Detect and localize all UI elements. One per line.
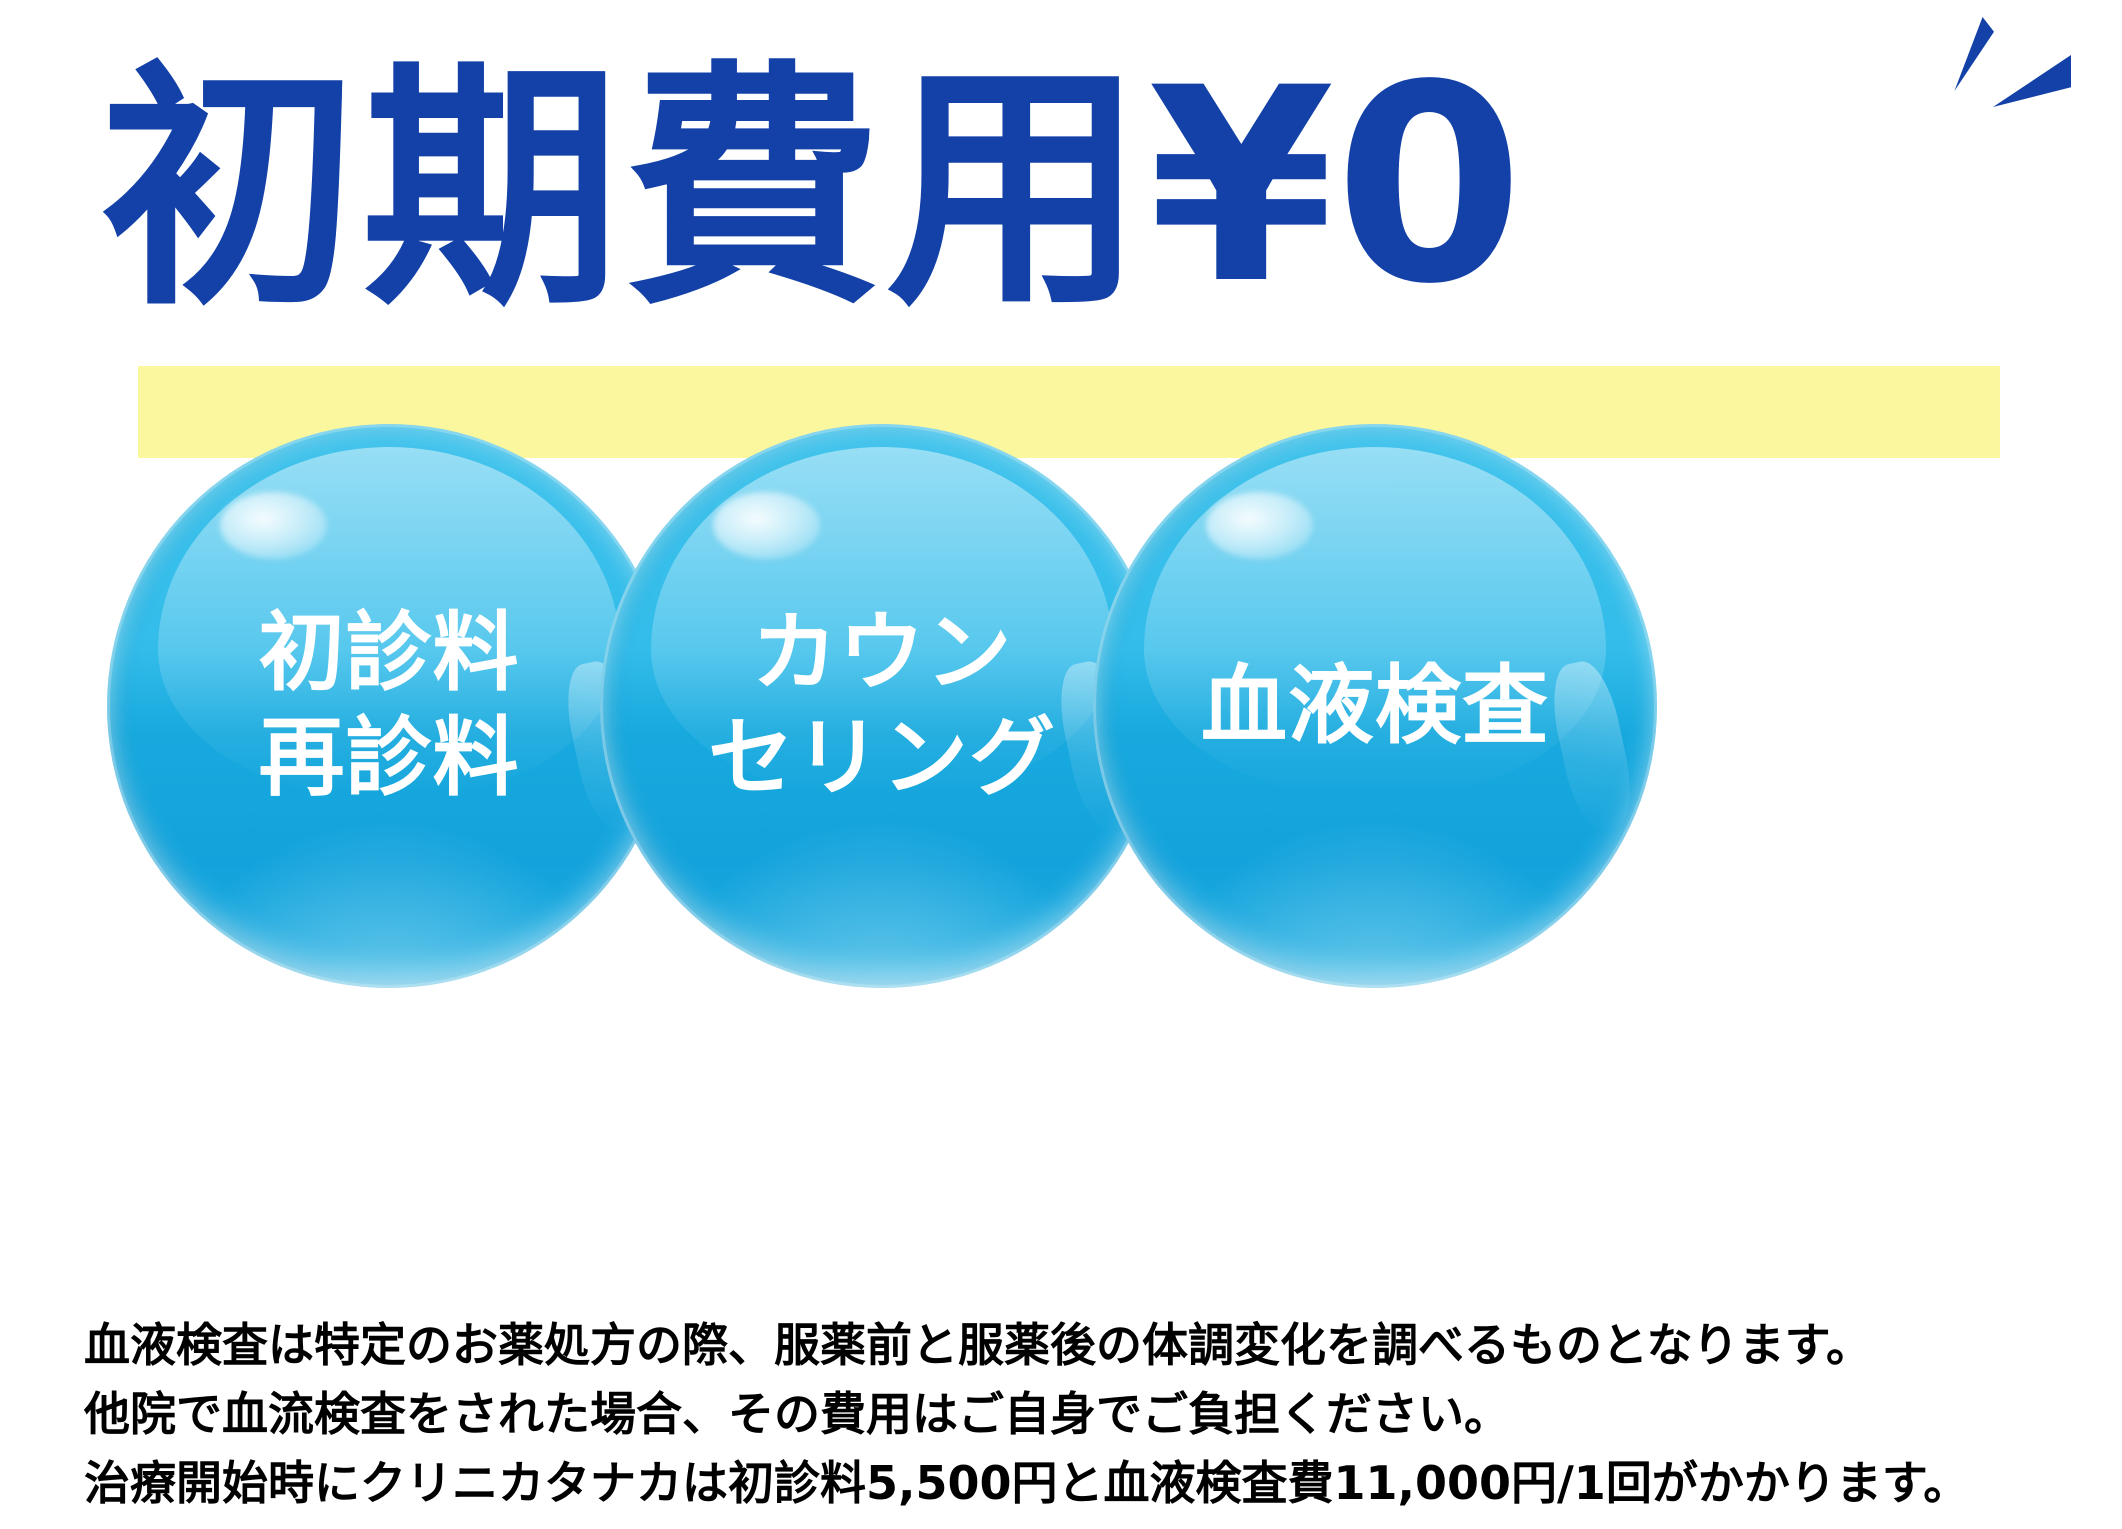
bubble-rim (1093, 424, 1657, 988)
feature-bubble-group: 初診料 再診料 カウン セリング 血液検査 (0, 0, 2122, 1529)
bubble-label-line1: 初診料 (259, 601, 520, 706)
bubble-label: 血液検査 (1093, 424, 1657, 988)
feature-bubble-blood-test: 血液検査 (1093, 424, 1657, 988)
bubble-glint-icon (1544, 656, 1640, 834)
bubble-label-line1: 血液検査 (1201, 654, 1549, 759)
feature-bubble-shoshinryo-saishinryo: 初診料 再診料 (107, 424, 671, 988)
promo-poster: 初期費用¥0 初診料 再診料 カウン セリング 血液検査 (0, 0, 2122, 1529)
note-line-2: 他院で血流検査をされた場合、その費用はご自身でご負担ください。 (84, 1380, 2074, 1449)
bubble-label: 初診料 再診料 (107, 424, 671, 988)
bubble-label-line1: カウン (752, 601, 1013, 706)
note-line-1: 血液検査は特定のお薬処方の際、服薬前と服薬後の体調変化を調べるものとなります。 (84, 1311, 2074, 1380)
bubble-label-line2: 再診料 (259, 706, 520, 811)
bubble-rim (600, 424, 1164, 988)
feature-bubble-counseling: カウン セリング (600, 424, 1164, 988)
note-line-3: 治療開始時にクリニカタナカは初診料5,500円と血液検査費11,000円/1回が… (84, 1449, 2074, 1518)
bubble-label-line2: セリング (708, 706, 1056, 811)
bubble-label: カウン セリング (600, 424, 1164, 988)
disclaimer-notes: 血液検査は特定のお薬処方の際、服薬前と服薬後の体調変化を調べるものとなります。 … (84, 1311, 2074, 1518)
bubble-rim (107, 424, 671, 988)
